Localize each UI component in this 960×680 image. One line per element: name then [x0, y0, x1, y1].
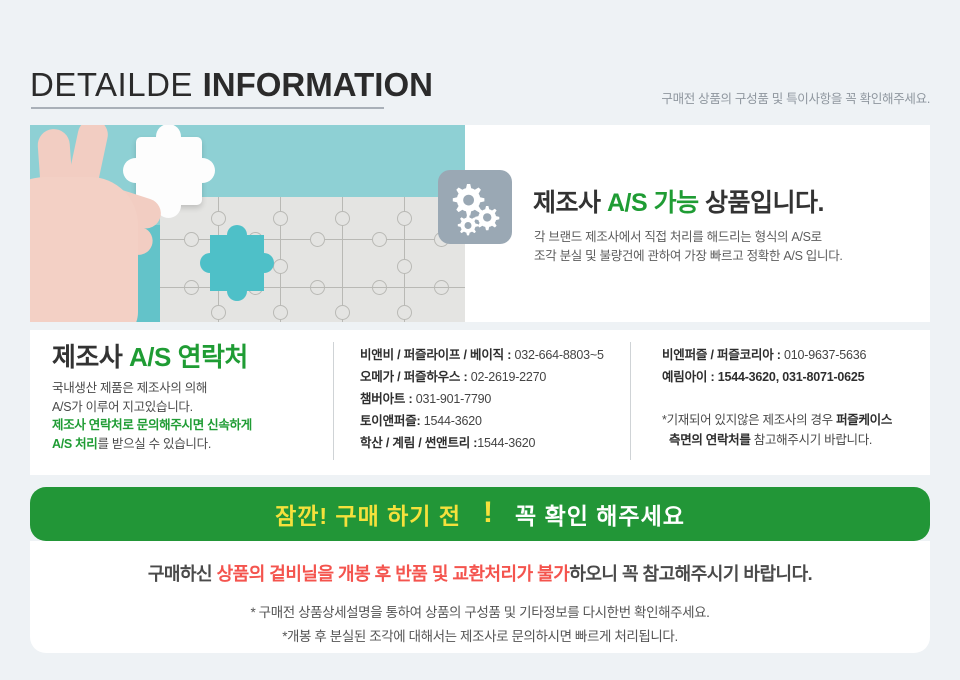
as-headline: 제조사 A/S 가능 상품입니다.: [533, 187, 824, 219]
as-headline-pre: 제조사: [533, 189, 601, 217]
warning-banner: 잠깐! 구매 하기 전 ! 꼭 확인 해주세요: [30, 487, 930, 541]
contact-brand: 학산 / 계림 / 썬앤트리 :: [360, 436, 477, 450]
banner-right-text: 꼭 확인 해주세요: [515, 497, 685, 531]
hand-illustration: [30, 125, 178, 322]
page-title-bold: INFORMATION: [203, 66, 433, 103]
contact-item: 챔버아트 : 031-901-7790: [360, 388, 622, 410]
hero-card: 제조사 A/S 가능 상품입니다. 각 브랜드 제조사에서 직접 처리를 해드리…: [30, 125, 930, 322]
contact-phone: 010-9637-5636: [781, 348, 866, 362]
page-title-light: DETAILDE: [30, 66, 193, 103]
contacts-title-pre: 제조사: [52, 342, 122, 372]
contact-item: 오메가 / 퍼즐하우스 : 02-2619-2270: [360, 366, 622, 388]
notice-main-highlight: 상품의 겉비닐을 개봉 후 반품 및 교환처리가 불가: [217, 564, 570, 584]
contact-item: 비앤비 / 퍼즐라이프 / 베이직 : 032-664-8803~5: [360, 344, 622, 366]
banner-left-text: 잠깐! 구매 하기 전: [275, 497, 461, 531]
contact-phone: 1544-3620, 031-8071-0625: [714, 370, 864, 384]
contact-item: 비엔퍼즐 / 퍼즐코리아 : 010-9637-5636: [662, 344, 912, 366]
page-header: DETAILDE INFORMATION 구매전 상품의 구성품 및 특이사항을…: [30, 66, 930, 110]
as-description: 각 브랜드 제조사에서 직접 처리를 해드리는 형식의 A/S로 조각 분실 및…: [534, 228, 843, 266]
exclamation-icon: !: [483, 498, 493, 528]
notice-main-text: 구매하신 상품의 겉비닐을 개봉 후 반품 및 교환처리가 불가하오니 꼭 참고…: [30, 560, 930, 586]
contacts-footnote-pre: *기재되어 있지않은 제조사의 경우: [662, 413, 836, 427]
contact-phone: 032-664-8803~5: [511, 348, 604, 362]
as-description-line-1: 각 브랜드 제조사에서 직접 처리를 해드리는 형식의 A/S로: [534, 228, 843, 247]
contacts-footnote-line-2: 측면의 연락처를 참고해주시기 바랍니다.: [662, 430, 912, 450]
contacts-intro-column: 제조사 A/S 연락처 국내생산 제품은 제조사의 의해 A/S가 이루어 지고…: [52, 340, 322, 453]
contact-brand: 챔버아트 :: [360, 392, 412, 406]
warning-banner-content: 잠깐! 구매 하기 전 ! 꼭 확인 해주세요: [30, 487, 930, 541]
contacts-footnote-rest: 참고해주시기 바랍니다.: [751, 433, 873, 447]
manufacturer-contacts: 제조사 A/S 연락처 국내생산 제품은 제조사의 의해 A/S가 이루어 지고…: [30, 330, 930, 475]
contacts-intro-text: 국내생산 제품은 제조사의 의해 A/S가 이루어 지고있습니다. 제조사 연락…: [52, 379, 322, 453]
contacts-footnote-line-1: *기재되어 있지않은 제조사의 경우 퍼즐케이스: [662, 413, 892, 427]
title-underline: [31, 107, 384, 109]
contacts-intro-line-3: 제조사 연락처로 문의해주시면 신속하게: [52, 416, 322, 435]
contact-brand: 비앤비 / 퍼즐라이프 / 베이직 :: [360, 348, 511, 362]
page-title: DETAILDE INFORMATION: [30, 66, 433, 104]
contact-brand: 예림아이 :: [662, 370, 714, 384]
puzzle-hand-photo: [30, 125, 465, 322]
gears-icon: [438, 170, 512, 244]
contact-brand: 토이앤퍼즐:: [360, 414, 420, 428]
notice-main-post: 하오니 꼭 참고해주시기 바랍니다.: [569, 564, 812, 584]
contacts-intro-line-2: A/S가 이루어 지고있습니다.: [52, 398, 322, 417]
contacts-title: 제조사 A/S 연락처: [52, 340, 322, 374]
contacts-footnote-bold-1: 퍼즐케이스: [836, 413, 892, 427]
contact-brand: 비엔퍼즐 / 퍼즐코리아 :: [662, 348, 781, 362]
notice-sub-text-2: *개봉 후 분실된 조각에 대해서는 제조사로 문의하시면 빠르게 처리됩니다.: [30, 625, 930, 645]
contact-item: 토이앤퍼즐: 1544-3620: [360, 410, 622, 432]
contact-item: 학산 / 계림 / 썬앤트리 :1544-3620: [360, 432, 622, 454]
as-description-line-2: 조각 분실 및 불량건에 관하여 가장 빠르고 정확한 A/S 입니다.: [534, 247, 843, 266]
contact-brand: 오메가 / 퍼즐하우스 :: [360, 370, 467, 384]
contacts-divider-2: [630, 342, 631, 460]
notice-main-pre: 구매하신: [148, 564, 217, 584]
contact-phone: 1544-3620: [477, 436, 535, 450]
return-policy-notice: 구매하신 상품의 겉비닐을 개봉 후 반품 및 교환처리가 불가하오니 꼭 참고…: [30, 541, 930, 653]
notice-sub-text-1: * 구매전 상품상세설명을 통하여 상품의 구성품 및 기타정보를 다시한번 확…: [30, 601, 930, 621]
contacts-intro-line-4-rest: 를 받으실 수 있습니다.: [98, 437, 212, 451]
contacts-divider-1: [333, 342, 334, 460]
contacts-list-right: 비엔퍼즐 / 퍼즐코리아 : 010-9637-5636 예림아이 : 1544…: [662, 344, 912, 450]
contact-phone: 02-2619-2270: [467, 370, 546, 384]
contact-phone: 1544-3620: [420, 414, 481, 428]
contacts-intro-line-4-green: A/S 처리: [52, 437, 98, 451]
contacts-title-accent: A/S 연락처: [129, 342, 248, 372]
contacts-list-middle: 비앤비 / 퍼즐라이프 / 베이직 : 032-664-8803~5 오메가 /…: [360, 344, 622, 454]
puzzle-empty-slot: [210, 235, 264, 291]
as-headline-post: 상품입니다.: [705, 189, 824, 217]
as-headline-accent: A/S 가능: [607, 189, 699, 217]
contacts-footnote: *기재되어 있지않은 제조사의 경우 퍼즐케이스 측면의 연락처를 참고해주시기…: [662, 410, 912, 450]
contact-phone: 031-901-7790: [412, 392, 491, 406]
header-note: 구매전 상품의 구성품 및 특이사항을 꼭 확인해주세요.: [661, 88, 930, 107]
product-detail-page: DETAILDE INFORMATION 구매전 상품의 구성품 및 특이사항을…: [0, 0, 960, 680]
contacts-intro-line-1: 국내생산 제품은 제조사의 의해: [52, 379, 322, 398]
contacts-intro-line-4: A/S 처리를 받으실 수 있습니다.: [52, 435, 322, 454]
contact-item: 예림아이 : 1544-3620, 031-8071-0625: [662, 366, 912, 388]
contacts-footnote-bold-2: 측면의 연락처를: [669, 433, 751, 447]
